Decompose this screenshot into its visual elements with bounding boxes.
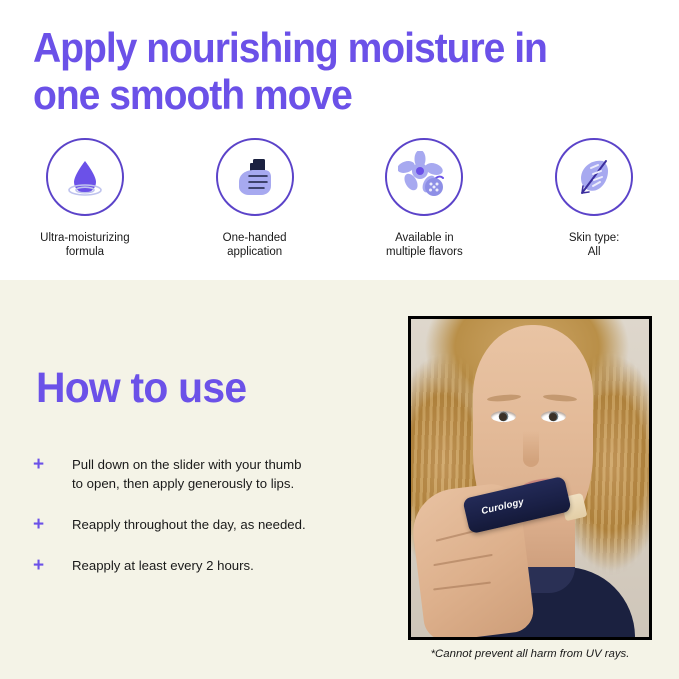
page-title: Apply nourishing moisture in one smooth …	[33, 24, 591, 118]
water-droplet-icon	[60, 152, 110, 202]
instruction-text: Pull down on the slider with your thumb …	[72, 455, 301, 493]
list-item: + Pull down on the slider with your thum…	[33, 455, 378, 493]
feature-label: One-handed application	[223, 231, 287, 259]
feature-item-ultra-moisturizing: Ultra-moisturizing formula	[0, 138, 170, 259]
top-section: Apply nourishing moisture in one smooth …	[0, 0, 679, 280]
hand-holding-tube-icon	[230, 152, 280, 202]
list-item: + Reapply throughout the day, as needed.	[33, 515, 378, 534]
model-pupil-right	[549, 413, 557, 421]
photo-content: Curology	[411, 319, 649, 637]
product-photo: Curology	[408, 316, 652, 640]
feather-icon	[569, 152, 619, 202]
feature-label: Ultra-moisturizing formula	[40, 231, 129, 259]
feature-list: Ultra-moisturizing formula One-handed ap…	[0, 138, 679, 259]
feature-icon-circle	[216, 138, 294, 216]
model-nose	[523, 431, 539, 467]
list-item: + Reapply at least every 2 hours.	[33, 556, 378, 575]
plus-icon: +	[33, 556, 72, 575]
model-pupil-left	[499, 413, 507, 421]
instruction-text: Reapply at least every 2 hours.	[72, 556, 254, 575]
product-info-page: Apply nourishing moisture in one smooth …	[0, 0, 679, 679]
photo-caption: *Cannot prevent all harm from UV rays.	[408, 648, 652, 660]
feature-icon-circle	[46, 138, 124, 216]
feature-item-one-handed: One-handed application	[170, 138, 340, 259]
feature-icon-circle	[385, 138, 463, 216]
feature-icon-circle	[555, 138, 633, 216]
section-title: How to use	[36, 364, 246, 412]
plus-icon: +	[33, 515, 72, 534]
flower-berry-icon	[398, 151, 450, 203]
feature-label: Available in multiple flavors	[386, 231, 463, 259]
instruction-list: + Pull down on the slider with your thum…	[33, 455, 378, 597]
brand-logo: Curology	[480, 497, 525, 517]
feature-item-skin-type: Skin type: All	[509, 138, 679, 259]
feature-item-multiple-flavors: Available in multiple flavors	[340, 138, 510, 259]
feature-label: Skin type: All	[569, 231, 620, 259]
plus-icon: +	[33, 455, 72, 493]
instruction-text: Reapply throughout the day, as needed.	[72, 515, 306, 534]
